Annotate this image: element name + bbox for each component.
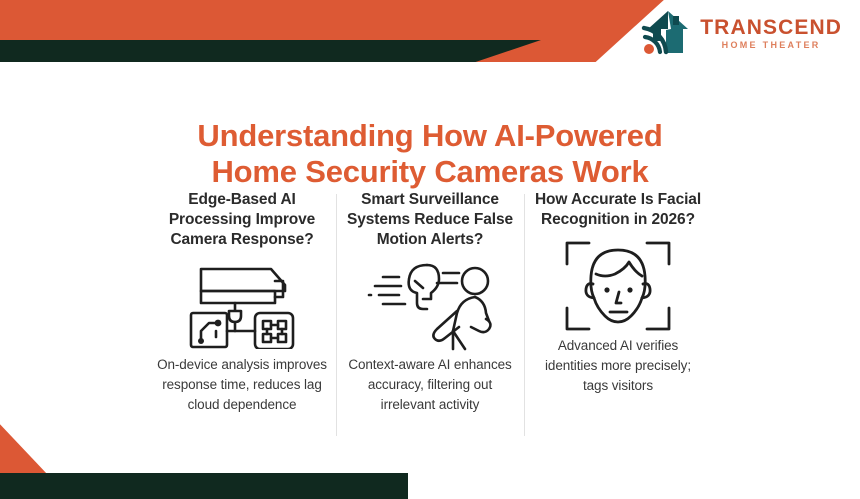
column-heading: How Accurate Is Facial Recognition in 20… xyxy=(532,190,704,230)
column-facial-recognition: How Accurate Is Facial Recognition in 20… xyxy=(524,190,712,415)
page-title: Understanding How AI-Powered Home Securi… xyxy=(0,118,860,191)
brand-logo: TRANSCEND HOME THEATER xyxy=(640,8,842,58)
bottom-green-bar xyxy=(0,473,408,499)
brand-name: TRANSCEND xyxy=(700,17,842,38)
motion-detection-walking-person-icon xyxy=(365,255,495,355)
bottom-orange-triangle xyxy=(0,420,48,475)
brand-tagline: HOME THEATER xyxy=(722,41,821,50)
column-edge-ai: Edge-Based AI Processing Improve Camera … xyxy=(148,190,336,415)
page-title-line-2: Home Security Cameras Work xyxy=(0,154,860,190)
top-green-banner xyxy=(0,40,541,62)
column-body-text: On-device analysis improves response tim… xyxy=(156,355,328,415)
column-body-text: Advanced AI verifies identities more pre… xyxy=(532,336,704,396)
column-heading: Edge-Based AI Processing Improve Camera … xyxy=(156,190,328,249)
infographic-page: TRANSCEND HOME THEATER Understanding How… xyxy=(0,0,860,499)
security-camera-chip-icon xyxy=(183,255,301,355)
column-heading: Smart Surveillance Systems Reduce False … xyxy=(344,190,516,249)
page-title-line-1: Understanding How AI-Powered xyxy=(0,118,860,154)
column-smart-surveillance: Smart Surveillance Systems Reduce False … xyxy=(336,190,524,415)
facial-recognition-scan-icon xyxy=(563,236,673,336)
house-wifi-icon xyxy=(640,8,692,58)
columns-container: Edge-Based AI Processing Improve Camera … xyxy=(148,190,712,415)
column-body-text: Context-aware AI enhances accuracy, filt… xyxy=(344,355,516,415)
